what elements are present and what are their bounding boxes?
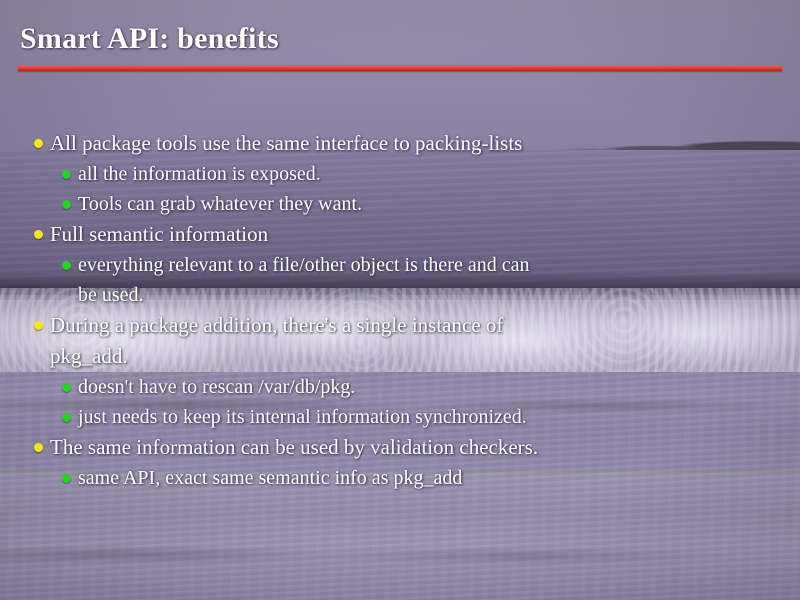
list-item-text: just needs to keep its internal informat… — [78, 402, 527, 432]
list-item-line: everything relevant to a file/other obje… — [78, 250, 529, 280]
list-item: Full semantic information — [0, 219, 800, 250]
list-item-text: everything relevant to a file/other obje… — [78, 250, 529, 310]
bullet-dot-icon — [34, 139, 43, 148]
list-item-text: During a package addition, there's a sin… — [50, 310, 503, 372]
bullet-dot-icon — [62, 474, 71, 483]
list-item-text: doesn't have to rescan /var/db/pkg. — [78, 372, 355, 402]
list-item: doesn't have to rescan /var/db/pkg. — [0, 372, 800, 402]
slide-title: Smart API: benefits — [20, 22, 279, 56]
background-shore-streak-lower — [0, 540, 800, 570]
list-item-text: Full semantic information — [50, 219, 268, 250]
list-item: During a package addition, there's a sin… — [0, 310, 800, 372]
bullet-dot-icon — [34, 230, 43, 239]
list-item: The same information can be used by vali… — [0, 432, 800, 463]
bullet-dot-icon — [34, 321, 43, 330]
list-item-text: all the information is exposed. — [78, 159, 321, 189]
list-item-continuation: pkg_add. — [50, 341, 503, 372]
list-item-text: The same information can be used by vali… — [50, 432, 538, 463]
list-item-line: During a package addition, there's a sin… — [50, 310, 503, 341]
list-item: All package tools use the same interface… — [0, 128, 800, 159]
list-item: everything relevant to a file/other obje… — [0, 250, 800, 310]
bullet-dot-icon — [62, 170, 71, 179]
list-item: all the information is exposed. — [0, 159, 800, 189]
bullet-dot-icon — [62, 261, 71, 270]
bullet-dot-icon — [34, 443, 43, 452]
presentation-slide: Smart API: benefits All package tools us… — [0, 0, 800, 600]
bullet-dot-icon — [62, 200, 71, 209]
bullet-dot-icon — [62, 413, 71, 422]
list-item-text: All package tools use the same interface… — [50, 128, 522, 159]
list-item-continuation: be used. — [78, 280, 529, 310]
list-item: same API, exact same semantic info as pk… — [0, 463, 800, 493]
list-item-text: same API, exact same semantic info as pk… — [78, 463, 462, 493]
list-item-text: Tools can grab whatever they want. — [78, 189, 362, 219]
title-underline-rule — [18, 65, 782, 71]
slide-body: All package tools use the same interface… — [0, 128, 800, 493]
bullet-dot-icon — [62, 383, 71, 392]
list-item: just needs to keep its internal informat… — [0, 402, 800, 432]
list-item: Tools can grab whatever they want. — [0, 189, 800, 219]
